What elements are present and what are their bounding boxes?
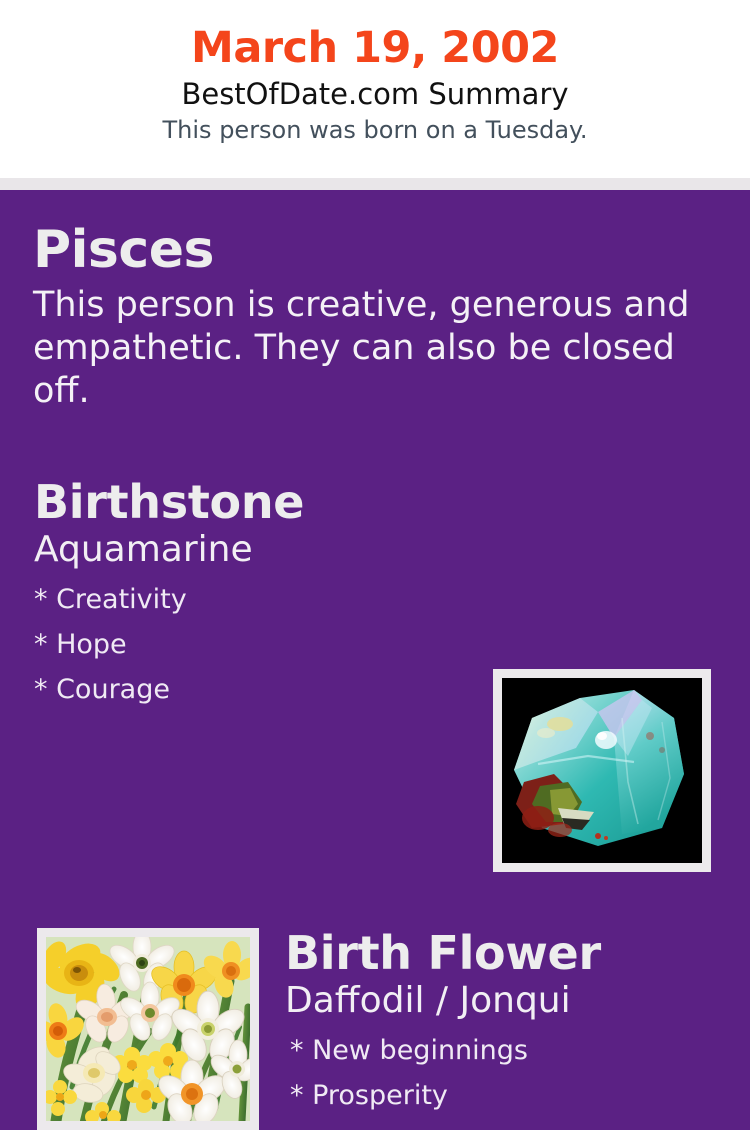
list-item: * New beginnings <box>290 1028 725 1073</box>
zodiac-description: This person is creative, generous and em… <box>33 284 705 413</box>
zodiac-sign-title: Pisces <box>33 220 713 280</box>
birth-flower-section: Birth Flower Daffodil / Jonqui * New beg… <box>285 926 725 1118</box>
daffodil-flowers-photo <box>46 937 250 1121</box>
birthstone-section: Birthstone Aquamarine * Creativity * Hop… <box>34 475 474 712</box>
birthstone-name: Aquamarine <box>34 529 474 571</box>
list-item: * Hope <box>34 622 474 667</box>
birthstone-heading: Birthstone <box>34 475 474 530</box>
birth-flower-trait-list: * New beginnings * Prosperity <box>285 1028 725 1118</box>
site-summary-label: BestOfDate.com Summary <box>0 75 750 113</box>
page-title-date: March 19, 2002 <box>0 22 750 74</box>
birth-flower-name: Daffodil / Jonqui <box>285 980 725 1022</box>
weekday-statement: This person was born on a Tuesday. <box>0 114 750 146</box>
birthstone-image-frame <box>493 669 711 872</box>
list-item: * Courage <box>34 667 474 712</box>
zodiac-section: Pisces This person is creative, generous… <box>33 220 713 413</box>
list-item: * Prosperity <box>290 1073 725 1118</box>
list-item: * Creativity <box>34 577 474 622</box>
summary-header: March 19, 2002 BestOfDate.com Summary Th… <box>0 0 750 178</box>
summary-panel: Pisces This person is creative, generous… <box>0 190 750 1000</box>
birthstone-trait-list: * Creativity * Hope * Courage <box>34 577 474 712</box>
header-divider <box>0 178 750 190</box>
birth-flower-image-frame <box>37 928 259 1130</box>
birth-flower-heading: Birth Flower <box>285 926 725 981</box>
aquamarine-crystal-photo <box>502 678 702 863</box>
